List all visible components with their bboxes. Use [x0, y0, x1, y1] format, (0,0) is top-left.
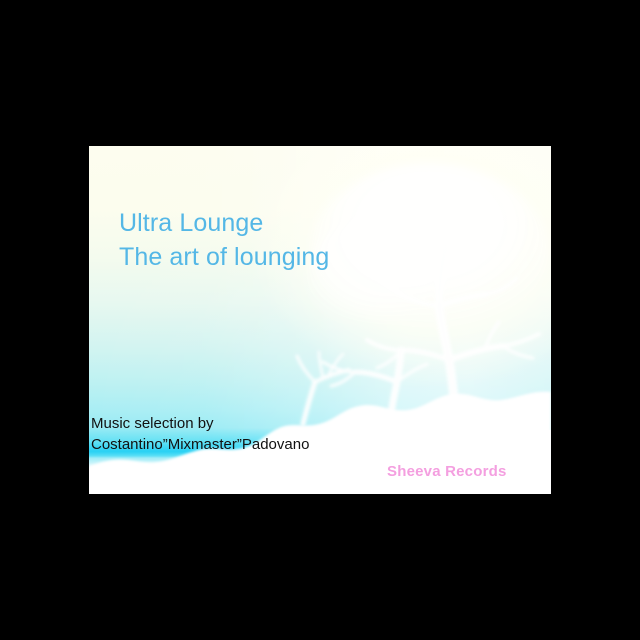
record-label-name: Sheeva Records — [387, 463, 507, 480]
credit-line-2: Costantino”Mixmaster”Padovano — [91, 434, 309, 455]
album-title: Ultra Lounge The art of lounging — [119, 206, 329, 274]
album-title-line-1: Ultra Lounge — [119, 206, 329, 240]
music-selection-credit: Music selection by Costantino”Mixmaster”… — [91, 413, 309, 455]
credit-line-1: Music selection by — [91, 413, 309, 434]
screenshot-canvas: Ultra Lounge The art of lounging Music s… — [0, 0, 640, 640]
album-title-line-2: The art of lounging — [119, 240, 329, 274]
album-cover-artwork: Ultra Lounge The art of lounging Music s… — [89, 146, 551, 494]
